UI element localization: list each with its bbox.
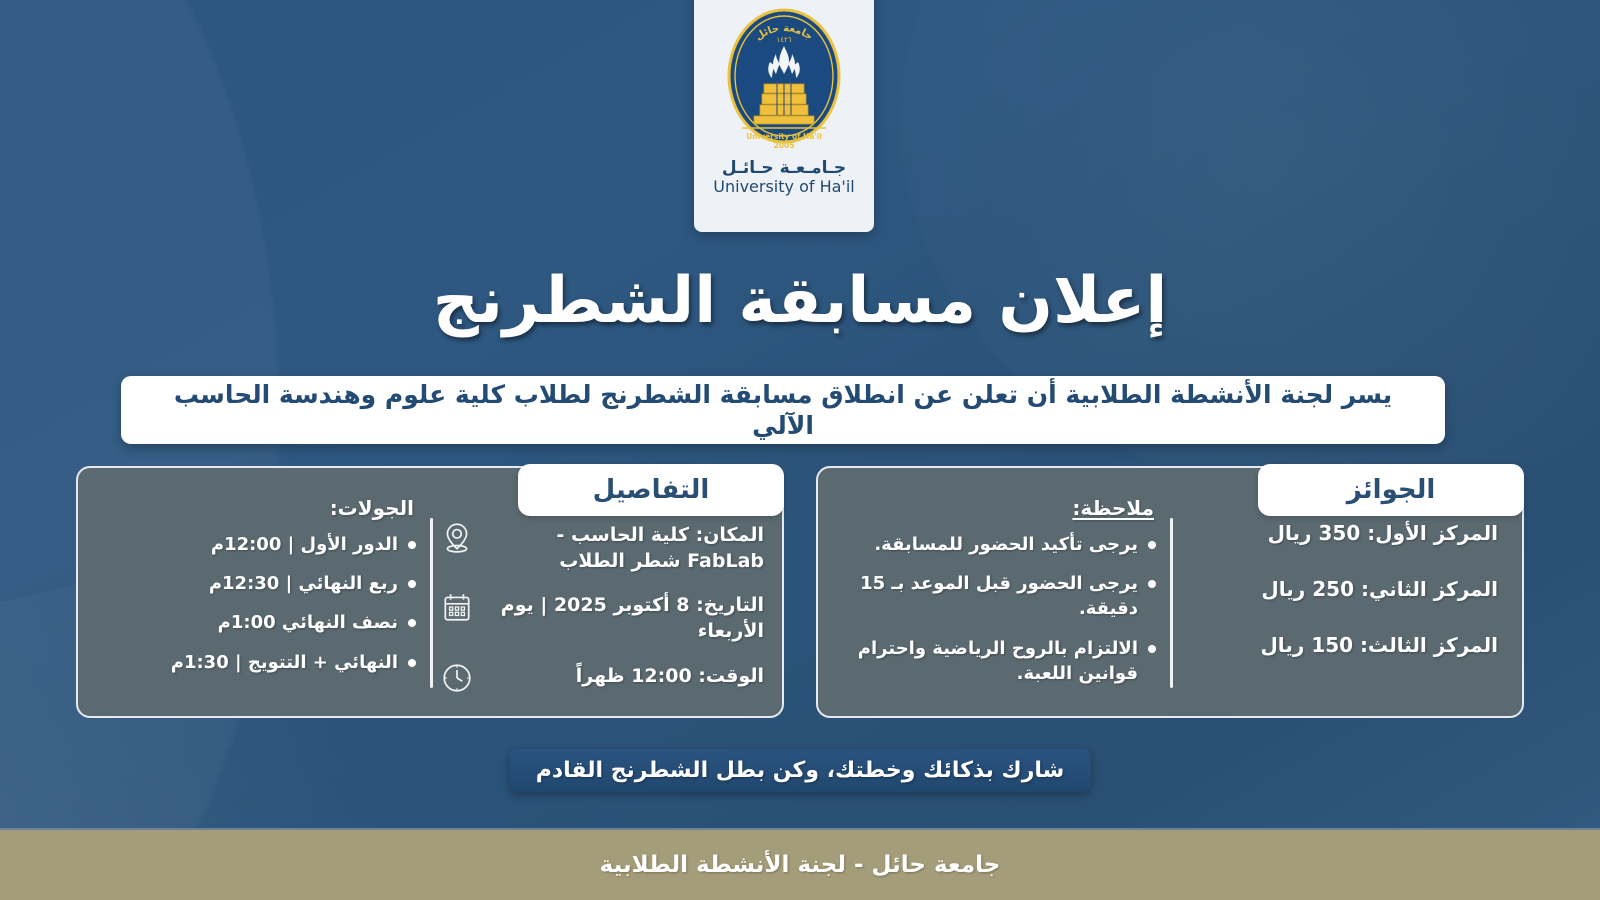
poster-root: جامعة حائل ١٤٢٦ (0, 0, 1600, 900)
page-title: إعلان مسابقة الشطرنج (0, 266, 1600, 336)
note-item: الالتزام بالروح الرياضية واحترام قوانين … (836, 636, 1160, 686)
calendar-icon (440, 590, 474, 624)
detail-location-text: المكان: كلية الحاسب - FabLab شطر الطلاب (484, 520, 764, 574)
notes-heading: ملاحظة: (836, 496, 1154, 520)
rounds-list: الدور الأول | 12:00م ربع النهائي | 12:30… (96, 532, 420, 675)
svg-text:University of Ha'il: University of Ha'il (746, 132, 822, 141)
subtitle-text: يسر لجنة الأنشطة الطلابية أن تعلن عن انط… (145, 379, 1421, 442)
notes-list: يرجى تأكيد الحضور للمسابقة. يرجى الحضور … (836, 532, 1160, 686)
footer-bar: جامعة حائل - لجنة الأنشطة الطلابية (0, 828, 1600, 900)
detail-row-date: التاريخ: 8 أكتوبر 2025 | يوم الأربعاء (440, 590, 764, 644)
logo-name-arabic: جـامـعـة حـائـل (713, 160, 854, 178)
round-item: ربع النهائي | 12:30م (96, 571, 420, 596)
round-item: النهائي + التتويج | 1:30م (96, 650, 420, 675)
logo-wordmark: جـامـعـة حـائـل University of Ha'il (713, 160, 854, 196)
notes-column: ملاحظة: يرجى تأكيد الحضور للمسابقة. يرجى… (818, 490, 1170, 710)
detail-date-text: التاريخ: 8 أكتوبر 2025 | يوم الأربعاء (484, 590, 764, 644)
subtitle-banner: يسر لجنة الأنشطة الطلابية أن تعلن عن انط… (121, 376, 1445, 444)
note-item: يرجى الحضور قبل الموعد بـ 15 دقيقة. (836, 571, 1160, 621)
detail-row-location: المكان: كلية الحاسب - FabLab شطر الطلاب (440, 520, 764, 574)
prize-item: المركز الأول: 350 ريال (1180, 520, 1504, 546)
background-ellipse-decoration (0, 0, 280, 900)
note-item: يرجى تأكيد الحضور للمسابقة. (836, 532, 1160, 557)
details-card-body: المكان: كلية الحاسب - FabLab شطر الطلاب … (78, 490, 782, 710)
rounds-column: الجولات: الدور الأول | 12:00م ربع النهائ… (78, 490, 430, 710)
info-cards-row: الجوائز المركز الأول: 350 ريال المركز ال… (76, 466, 1524, 718)
clock-icon (440, 661, 474, 695)
logo-name-english: University of Ha'il (713, 179, 854, 196)
svg-text:١٤٢٦: ١٤٢٦ (776, 36, 791, 44)
prizes-list: المركز الأول: 350 ريال المركز الثاني: 25… (1180, 520, 1504, 658)
prizes-list-column: المركز الأول: 350 ريال المركز الثاني: 25… (1170, 490, 1522, 710)
call-to-action-text: شارك بذكائك وخطتك، وكن بطل الشطرنج القاد… (536, 758, 1065, 783)
location-pin-icon (440, 520, 474, 554)
prize-item: المركز الثاني: 250 ريال (1180, 576, 1504, 602)
details-card-divider (430, 518, 433, 688)
svg-text:2005: 2005 (774, 141, 795, 150)
rounds-heading: الجولات: (96, 496, 414, 520)
prizes-card-body: المركز الأول: 350 ريال المركز الثاني: 25… (818, 490, 1522, 710)
detail-time-text: الوقت: 12:00 ظهراً (484, 661, 764, 690)
round-item: نصف النهائي 1:00م (96, 610, 420, 635)
detail-row-time: الوقت: 12:00 ظهراً (440, 661, 764, 695)
round-item: الدور الأول | 12:00م (96, 532, 420, 557)
call-to-action-banner: شارك بذكائك وخطتك، وكن بطل الشطرنج القاد… (510, 749, 1091, 792)
university-seal-icon: جامعة حائل ١٤٢٦ (720, 6, 848, 158)
university-logo-card: جامعة حائل ١٤٢٦ (694, 0, 874, 232)
details-card: التفاصيل المكان: كلية الحاسب - FabLab شط… (76, 466, 784, 718)
footer-text: جامعة حائل - لجنة الأنشطة الطلابية (600, 852, 1001, 878)
details-info-column: المكان: كلية الحاسب - FabLab شطر الطلاب … (430, 490, 782, 710)
prizes-card-divider (1170, 518, 1173, 688)
prize-item: المركز الثالث: 150 ريال (1180, 632, 1504, 658)
prizes-card: الجوائز المركز الأول: 350 ريال المركز ال… (816, 466, 1524, 718)
